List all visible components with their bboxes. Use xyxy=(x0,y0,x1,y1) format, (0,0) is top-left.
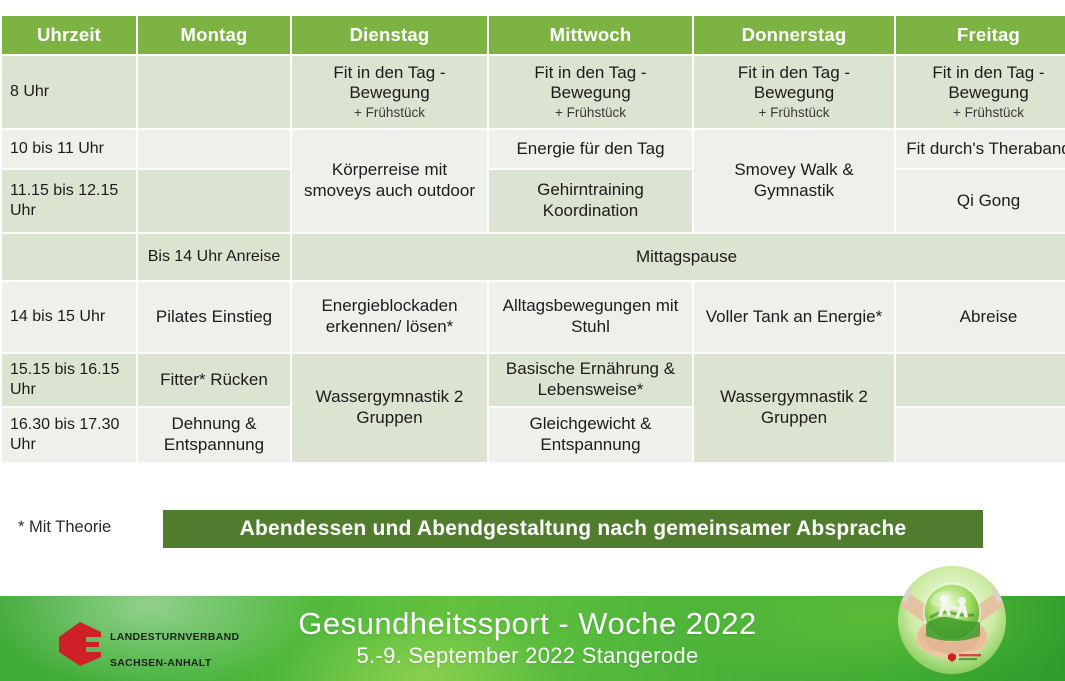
cell-donnerstag-8uhr: Fit in den Tag - Bewegung + Frühstück xyxy=(694,56,894,128)
weekly-schedule-table: Uhrzeit Montag Dienstag Mittwoch Donners… xyxy=(0,14,1065,464)
cell-freitag-abreise: Abreise xyxy=(896,282,1065,352)
column-header-freitag: Freitag xyxy=(896,16,1065,54)
column-header-donnerstag: Donnerstag xyxy=(694,16,894,54)
event-title: Gesundheitssport - Woche 2022 xyxy=(298,608,757,641)
ltv-logo-line1: LANDESTURNVERBAND xyxy=(110,631,239,643)
cell-mittagspause: Mittagspause xyxy=(292,234,1065,280)
cell-dienstag-wassergymnastik: Wassergymnastik 2 Gruppen xyxy=(292,354,487,462)
table-row-mittagspause: Bis 14 Uhr Anreise Mittagspause xyxy=(2,234,1065,280)
cell-freitag-theraband: Fit durch's Theraband xyxy=(896,130,1065,168)
cell-time-14-15: 14 bis 15 Uhr xyxy=(2,282,136,352)
footnote-mit-theorie: * Mit Theorie xyxy=(18,518,111,537)
cell-mittwoch-basische: Basische Ernährung & Lebensweise* xyxy=(489,354,692,406)
cell-mittwoch-gleichgewicht: Gleichgewicht & Entspannung xyxy=(489,408,692,462)
ltv-logo-line2: SACHSEN-ANHALT xyxy=(110,657,211,669)
table-row: 16.30 bis 17.30 Uhr Dehnung & Entspannun… xyxy=(2,408,1065,462)
cell-mittwoch-energie: Energie für den Tag xyxy=(489,130,692,168)
activity-subtitle: + Frühstück xyxy=(298,105,481,121)
cell-montag-8uhr xyxy=(138,56,290,128)
activity-subtitle: + Frühstück xyxy=(700,105,888,121)
cell-montag-anreise: Bis 14 Uhr Anreise xyxy=(138,234,290,280)
activity-subtitle: + Frühstück xyxy=(902,105,1065,121)
cell-freitag-1515 xyxy=(896,354,1065,406)
table-row: 11.15 bis 12.15 Uhr Gehirntraining Koord… xyxy=(2,170,1065,232)
cell-time-8uhr: 8 Uhr xyxy=(2,56,136,128)
cell-montag-1115 xyxy=(138,170,290,232)
schedule-poster: Uhrzeit Montag Dienstag Mittwoch Donners… xyxy=(0,0,1065,681)
column-header-dienstag: Dienstag xyxy=(292,16,487,54)
column-header-montag: Montag xyxy=(138,16,290,54)
cell-time-1115-1215: 11.15 bis 12.15 Uhr xyxy=(2,170,136,232)
table-row: 15.15 bis 16.15 Uhr Fitter* Rücken Wasse… xyxy=(2,354,1065,406)
hands-holding-globe-badge-icon xyxy=(898,566,1006,674)
cell-montag-pilates: Pilates Einstieg xyxy=(138,282,290,352)
cell-donnerstag-wassergymnastik: Wassergymnastik 2 Gruppen xyxy=(694,354,894,462)
event-subtitle: 5.-9. September 2022 Stangerode xyxy=(357,643,699,669)
cell-montag-dehnung: Dehnung & Entspannung xyxy=(138,408,290,462)
cell-time-1515-1615: 15.15 bis 16.15 Uhr xyxy=(2,354,136,406)
table-row: 10 bis 11 Uhr Körperreise mit smoveys au… xyxy=(2,130,1065,168)
cell-dienstag-8uhr: Fit in den Tag - Bewegung + Frühstück xyxy=(292,56,487,128)
activity-title: Fit in den Tag - Bewegung xyxy=(932,63,1044,103)
cell-montag-10-11 xyxy=(138,130,290,168)
cell-dienstag-energieblockaden: Energieblockaden erkennen/ lösen* xyxy=(292,282,487,352)
cell-donnerstag-smovey: Smovey Walk & Gymnastik xyxy=(694,130,894,232)
cell-freitag-qigong: Qi Gong xyxy=(896,170,1065,232)
column-header-mittwoch: Mittwoch xyxy=(489,16,692,54)
cell-time-10-11: 10 bis 11 Uhr xyxy=(2,130,136,168)
cell-mittwoch-gehirntraining: Gehirntraining Koordination xyxy=(489,170,692,232)
cell-time-1630-1730: 16.30 bis 17.30 Uhr xyxy=(2,408,136,462)
cell-time-mittag xyxy=(2,234,136,280)
evening-program-banner: Abendessen und Abendgestaltung nach geme… xyxy=(163,510,983,548)
activity-title: Fit in den Tag - Bewegung xyxy=(534,63,646,103)
ltv-logo-text: LANDESTURNVERBAND SACHSEN-ANHALT xyxy=(110,618,239,671)
cell-donnerstag-vollertank: Voller Tank an Energie* xyxy=(694,282,894,352)
cell-dienstag-koerperreise: Körperreise mit smoveys auch outdoor xyxy=(292,130,487,232)
cell-freitag-8uhr: Fit in den Tag - Bewegung + Frühstück xyxy=(896,56,1065,128)
table-row: 14 bis 15 Uhr Pilates Einstieg Energiebl… xyxy=(2,282,1065,352)
ltv-mark-icon xyxy=(58,621,102,667)
activity-title: Fit in den Tag - Bewegung xyxy=(333,63,445,103)
cell-mittwoch-alltagsbewegungen: Alltagsbewegungen mit Stuhl xyxy=(489,282,692,352)
activity-title: Fit in den Tag - Bewegung xyxy=(738,63,850,103)
cell-freitag-1630 xyxy=(896,408,1065,462)
globe-badge-graphic xyxy=(898,566,1006,674)
cell-mittwoch-8uhr: Fit in den Tag - Bewegung + Frühstück xyxy=(489,56,692,128)
table-header-row: Uhrzeit Montag Dienstag Mittwoch Donners… xyxy=(2,16,1065,54)
table-row: 8 Uhr Fit in den Tag - Bewegung + Frühst… xyxy=(2,56,1065,128)
activity-subtitle: + Frühstück xyxy=(495,105,686,121)
column-header-uhrzeit: Uhrzeit xyxy=(2,16,136,54)
landesturnverband-logo: LANDESTURNVERBAND SACHSEN-ANHALT xyxy=(58,618,239,671)
cell-montag-fitterruecken: Fitter* Rücken xyxy=(138,354,290,406)
